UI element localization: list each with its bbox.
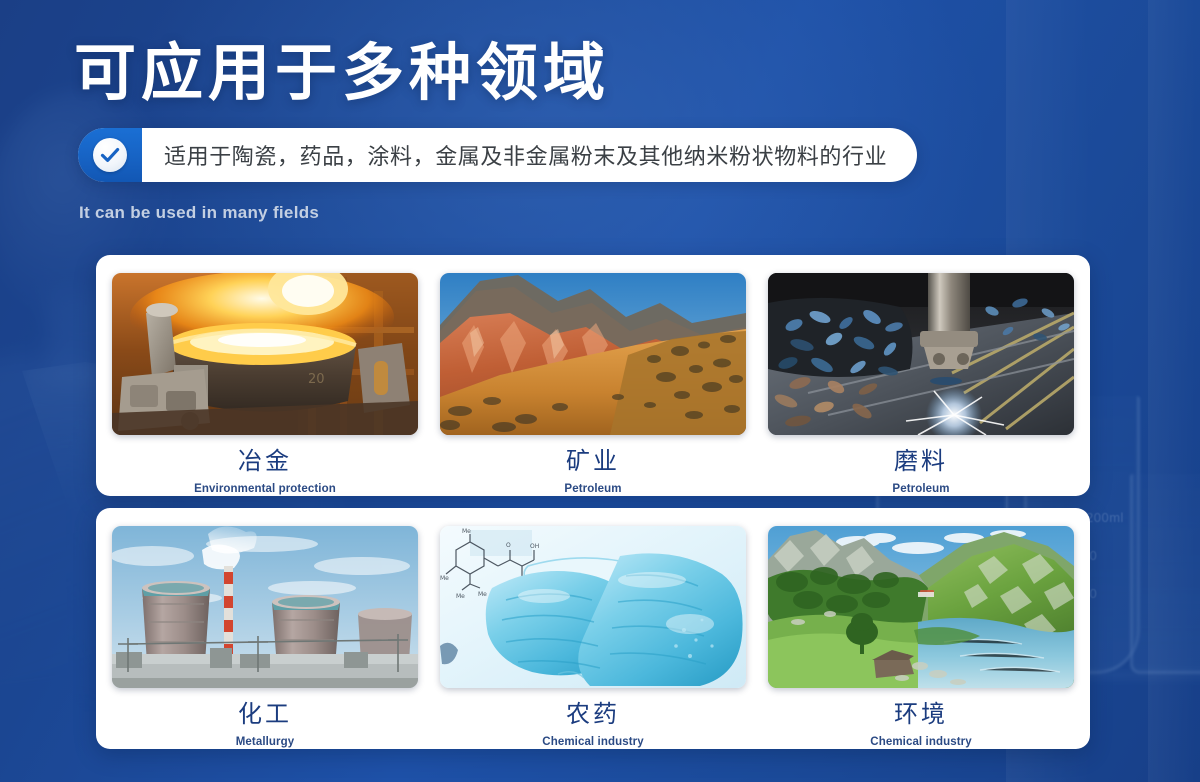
mining-mountain-photo <box>440 273 746 435</box>
card-subtitle: Chemical industry <box>542 736 643 748</box>
svg-text:Me: Me <box>456 593 465 600</box>
application-card-pesticide[interactable]: Me O OH Me Me Me <box>440 526 746 749</box>
card-subtitle: Petroleum <box>564 483 621 495</box>
abrasives-machining-photo <box>768 273 1074 435</box>
svg-text:OH: OH <box>530 543 539 550</box>
metallurgy-furnace-photo: 20 <box>112 273 418 435</box>
environment-lake-photo <box>768 526 1074 688</box>
card-group-row-1: 20 冶金 Environmental protection <box>96 255 1090 496</box>
page-title: 可应用于多种领域 <box>74 36 610 110</box>
tagline-text: 适用于陶瓷，药品，涂料，金属及非金属粉末及其他纳米粉状物料的行业 <box>142 128 917 182</box>
application-card-abrasives[interactable]: 磨料 Petroleum <box>768 273 1074 496</box>
card-title: 磨料 <box>894 449 948 475</box>
tagline-badge <box>78 128 142 182</box>
application-card-mining[interactable]: 矿业 Petroleum <box>440 273 746 496</box>
applications-row-2: 化工 Metallurgy <box>96 508 1090 749</box>
tagline-pill: 适用于陶瓷，药品，涂料，金属及非金属粉末及其他纳米粉状物料的行业 <box>78 128 917 182</box>
chemical-plant-photo <box>112 526 418 688</box>
pesticide-lab-photo: Me O OH Me Me Me <box>440 526 746 688</box>
card-group-row-2: 化工 Metallurgy <box>96 508 1090 749</box>
card-subtitle: Petroleum <box>892 483 949 495</box>
glassware-beaker-3 <box>1130 474 1200 674</box>
applications-row-1: 20 冶金 Environmental protection <box>96 255 1090 496</box>
card-title: 矿业 <box>566 449 620 475</box>
svg-text:Me: Me <box>462 528 471 535</box>
svg-text:Me: Me <box>440 575 449 582</box>
application-card-chemical[interactable]: 化工 Metallurgy <box>112 526 418 749</box>
card-subtitle: Metallurgy <box>236 736 295 748</box>
application-card-metallurgy[interactable]: 20 冶金 Environmental protection <box>112 273 418 496</box>
card-title: 化工 <box>238 702 292 728</box>
svg-text:Me: Me <box>478 591 487 598</box>
card-subtitle: Chemical industry <box>870 736 971 748</box>
svg-text:20: 20 <box>308 372 325 387</box>
page-stage: 200ml 150 100 可应用于多种领域 适用于陶瓷，药品，涂料，金属及非金… <box>0 0 1200 782</box>
svg-text:O: O <box>506 542 511 549</box>
card-title: 农药 <box>566 702 620 728</box>
card-subtitle: Environmental protection <box>194 483 336 495</box>
subtitle-english: It can be used in many fields <box>79 203 319 223</box>
background-band-2 <box>1148 0 1196 782</box>
glassware-tick-label-200: 200ml <box>1086 510 1124 525</box>
check-circle-icon <box>93 138 127 172</box>
card-title: 冶金 <box>238 449 292 475</box>
application-card-environment[interactable]: 环境 Chemical industry <box>768 526 1074 749</box>
card-title: 环境 <box>894 702 948 728</box>
